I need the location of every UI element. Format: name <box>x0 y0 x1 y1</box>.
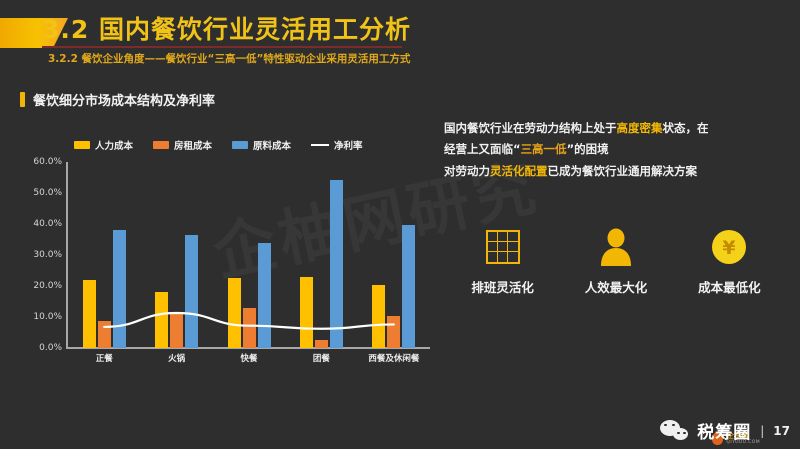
legend-item-3: 净利率 <box>311 138 363 152</box>
legend-color-swatch <box>153 141 169 149</box>
insight-1-part-a: 国内餐饮行业在劳动力结构上处于 <box>444 121 617 135</box>
bar-2 <box>330 180 343 348</box>
bar-2 <box>258 243 271 348</box>
insight-2-part-b: ”的困境 <box>567 142 609 156</box>
insight-3-part-a: 对劳动力 <box>444 164 490 178</box>
y-axis-tick: 40.0% <box>33 219 62 229</box>
y-axis-tick: 20.0% <box>33 281 62 291</box>
wechat-icon <box>660 420 690 442</box>
insight-line-3: 对劳动力灵活化配置已成为餐饮行业通用解决方案 <box>444 161 792 182</box>
insight-text-block: 国内餐饮行业在劳动力结构上处于高度密集状态，在 经营上又面临“三高一低”的困境 … <box>444 118 792 182</box>
feature-item-efficiency: 人效最大化 <box>559 226 672 296</box>
bar-1 <box>170 312 183 348</box>
svg-text:¥: ¥ <box>723 237 736 259</box>
legend-line-swatch <box>311 144 329 146</box>
feature-label-scheduling: 排班灵活化 <box>471 277 534 296</box>
legend-label: 人力成本 <box>95 138 133 152</box>
insight-3-part-b: 已成为餐饮行业通用解决方案 <box>548 164 698 178</box>
bar-0 <box>372 285 385 348</box>
section-header: 餐饮细分市场成本结构及净利率 <box>20 90 215 109</box>
bar-group <box>358 162 430 348</box>
bar-group <box>213 162 285 348</box>
y-axis: 0.0%10.0%20.0%30.0%40.0%50.0%60.0% <box>14 162 66 348</box>
section-accent-bar <box>20 92 25 107</box>
legend-label: 原料成本 <box>253 138 291 152</box>
x-axis-label: 团餐 <box>285 352 357 364</box>
chart-legend: 人力成本房租成本原料成本净利率 <box>74 138 363 152</box>
feature-item-scheduling: 排班灵活化 <box>446 226 559 296</box>
legend-label: 房租成本 <box>174 138 212 152</box>
insight-2-highlight: 三高一低 <box>521 142 567 156</box>
bar-1 <box>98 321 111 348</box>
y-axis-tick: 0.0% <box>39 343 62 353</box>
legend-color-swatch <box>232 141 248 149</box>
insight-1-highlight: 高度密集 <box>617 121 663 135</box>
footer-brand: 税筹圈 <box>697 418 751 443</box>
bar-0 <box>155 292 168 348</box>
x-axis-label: 正餐 <box>68 352 140 364</box>
bar-2 <box>402 225 415 348</box>
bar-2 <box>185 235 198 348</box>
chart-plot-area: 0.0%10.0%20.0%30.0%40.0%50.0%60.0% 正餐火锅快… <box>14 162 432 370</box>
slide-header: 3.2 国内餐饮行业灵活用工分析 3.2.2 餐饮企业角度——餐饮行业“三高一低… <box>0 12 800 74</box>
legend-color-swatch <box>74 141 90 149</box>
person-icon <box>595 226 637 268</box>
insight-line-1: 国内餐饮行业在劳动力结构上处于高度密集状态，在 <box>444 118 792 139</box>
slide-root: 3.2 国内餐饮行业灵活用工分析 3.2.2 餐饮企业角度——餐饮行业“三高一低… <box>0 0 800 449</box>
feature-icon-row: 排班灵活化 人效最大化 ¥ 成本最低化 <box>446 226 786 296</box>
bar-group <box>140 162 212 348</box>
insight-1-part-b: 状态，在 <box>663 121 709 135</box>
feature-item-cost: ¥ 成本最低化 <box>673 226 786 296</box>
y-axis-tick: 50.0% <box>33 188 62 198</box>
bar-2 <box>113 230 126 348</box>
grid-icon <box>482 226 524 268</box>
feature-label-cost: 成本最低化 <box>698 277 761 296</box>
x-axis-label: 快餐 <box>213 352 285 364</box>
insight-2-part-a: 经营上又面临“ <box>444 142 521 156</box>
legend-item-2: 原料成本 <box>232 138 291 152</box>
x-axis-labels: 正餐火锅快餐团餐西餐及休闲餐 <box>68 352 430 364</box>
y-axis-tick: 30.0% <box>33 250 62 260</box>
legend-item-1: 房租成本 <box>153 138 212 152</box>
bar-1 <box>243 308 256 348</box>
bar-0 <box>300 277 313 348</box>
insight-line-2: 经营上又面临“三高一低”的困境 <box>444 139 792 160</box>
x-axis-label: 火锅 <box>140 352 212 364</box>
insight-3-highlight: 灵活化配置 <box>490 164 548 178</box>
legend-item-0: 人力成本 <box>74 138 133 152</box>
bar-1 <box>315 340 328 348</box>
page-number: 17 <box>773 424 790 438</box>
footer-separator: | <box>760 424 764 438</box>
bar-group <box>68 162 140 348</box>
bar-0 <box>228 278 241 348</box>
y-axis-tick: 10.0% <box>33 312 62 322</box>
section-title: 餐饮细分市场成本结构及净利率 <box>33 90 215 109</box>
page-subtitle: 3.2.2 餐饮企业角度——餐饮行业“三高一低”特性驱动企业采用灵活用工方式 <box>48 51 410 66</box>
bar-0 <box>83 280 96 348</box>
x-axis-label: 西餐及休闲餐 <box>358 352 430 364</box>
yuan-coin-icon: ¥ <box>708 226 750 268</box>
cost-structure-chart: 人力成本房租成本原料成本净利率 0.0%10.0%20.0%30.0%40.0%… <box>14 138 432 396</box>
title-underline <box>42 46 402 48</box>
feature-label-efficiency: 人效最大化 <box>585 277 648 296</box>
page-title: 3.2 国内餐饮行业灵活用工分析 <box>42 10 411 46</box>
slide-footer: 税筹圈 | 17 <box>660 418 790 443</box>
bar-group <box>285 162 357 348</box>
bar-groups <box>68 162 430 348</box>
legend-label: 净利率 <box>334 138 363 152</box>
y-axis-tick: 60.0% <box>33 157 62 167</box>
bar-1 <box>387 316 400 348</box>
